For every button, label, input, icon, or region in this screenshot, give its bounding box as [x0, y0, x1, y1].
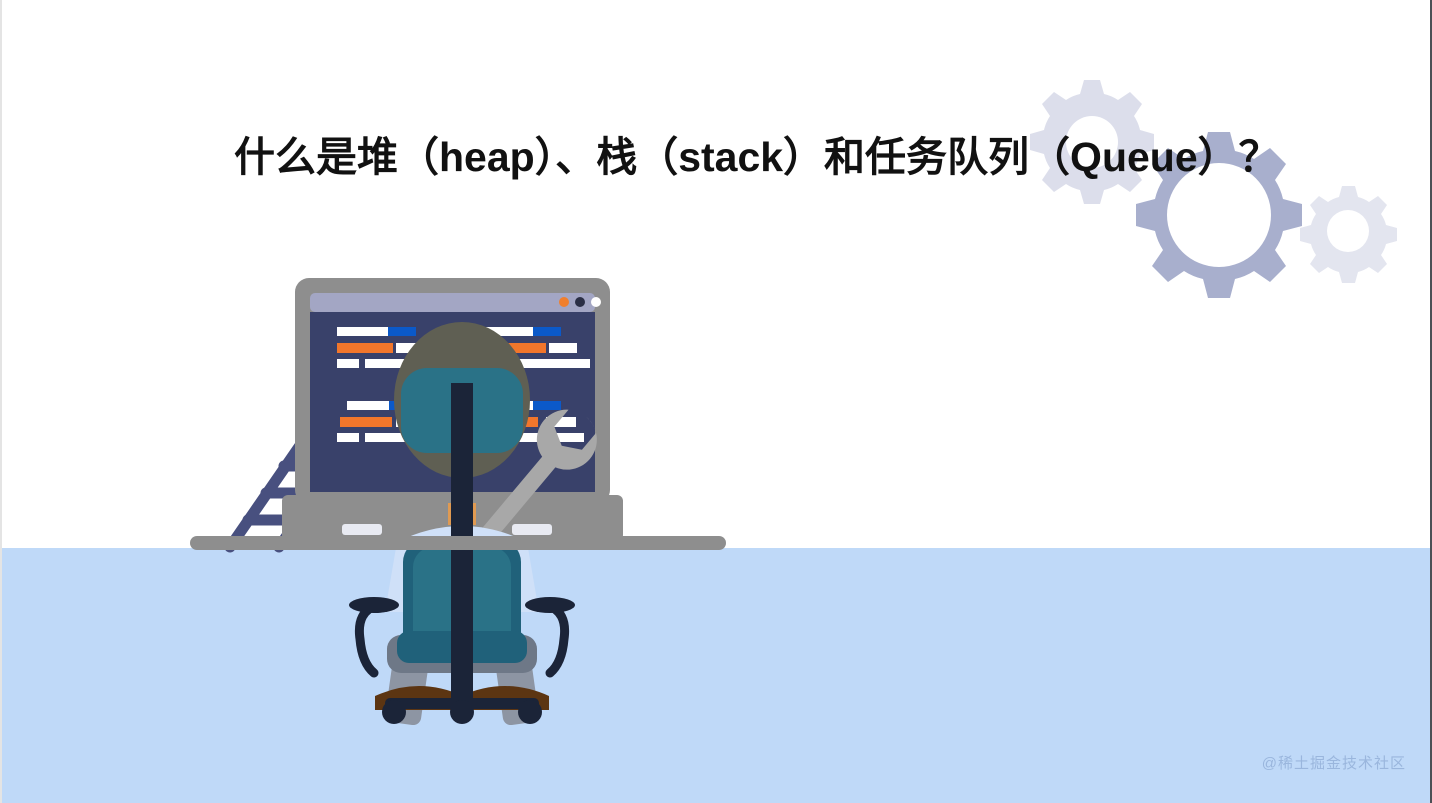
dot-white [591, 297, 601, 307]
gear-decoration-group [1012, 60, 1412, 340]
slide-title: 什么是堆（heap）、栈（stack）和任务队列（Queue）？ [234, 130, 1354, 184]
slide-canvas: 什么是堆（heap）、栈（stack）和任务队列（Queue）？ [0, 0, 1432, 803]
watermark-text: @稀土掘金技术社区 [1262, 752, 1406, 773]
hero-illustration [182, 255, 742, 725]
gear-right-small [1300, 186, 1397, 283]
dot-dark [575, 297, 585, 307]
dot-orange [559, 297, 569, 307]
